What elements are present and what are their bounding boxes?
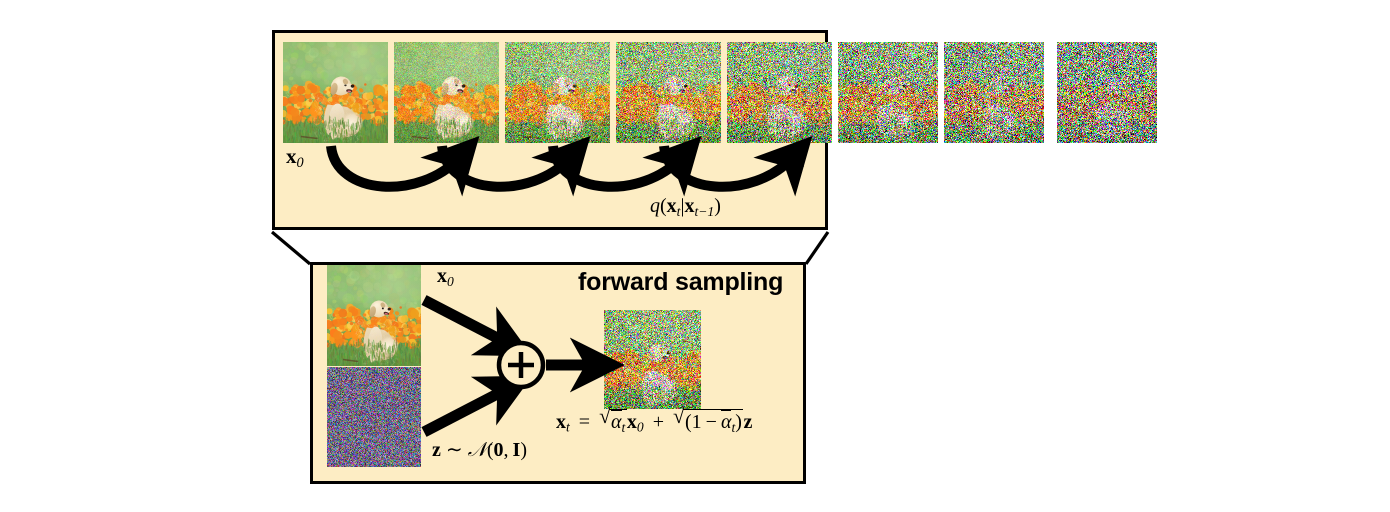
chain-image-x3	[616, 42, 721, 143]
trailing-image-2	[944, 42, 1044, 143]
diagram-stage: x0 xt q(xt|xt−1) forward sampling x0 z ∼…	[0, 0, 1390, 512]
chain-image-x2	[505, 42, 610, 143]
label-x0-top: x0	[286, 146, 304, 170]
panel-heading-forward-sampling: forward sampling	[578, 270, 783, 295]
chain-image-x0	[283, 42, 388, 143]
label-noise-distribution: z ∼ 𝒩(0, I)	[432, 440, 527, 460]
sampling-result-image	[604, 310, 701, 409]
chain-image-x1	[394, 42, 499, 143]
sampling-clean-image	[327, 265, 421, 366]
trailing-image-1	[838, 42, 938, 143]
trailing-image-3	[1057, 42, 1157, 143]
chain-image-xt	[727, 42, 832, 143]
equation-forward-sampling: xt = αtx0 + (1 − αt)z	[556, 408, 752, 434]
label-transition-q: q(xt|xt−1)	[650, 196, 721, 218]
sampling-noise-image	[327, 367, 421, 467]
label-xt-top: xt	[790, 146, 804, 170]
label-x0-bottom: x0	[437, 266, 454, 288]
